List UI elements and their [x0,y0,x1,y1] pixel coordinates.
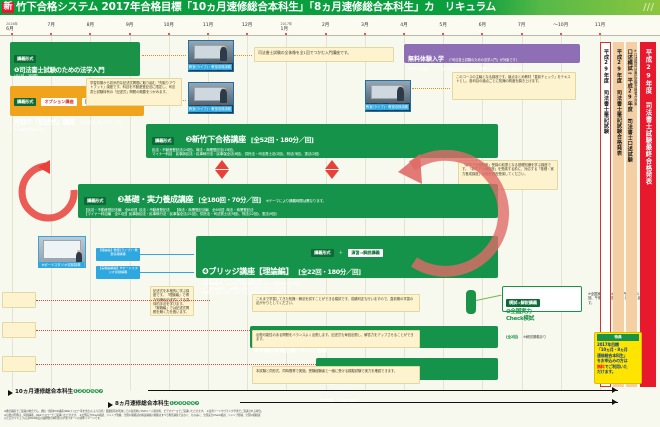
description-jump-text: 出題可能性のある問題をバランスよく出題します。記述式も毎回出題し、解答力をアップ… [256,333,416,342]
course-card-check-mock[interactable]: 模試⇒解説講義 ❺全国実力 Check模試 [全2回] ※解説講義あり [502,286,582,312]
timeline-tick-13: 6月 [479,22,487,28]
description-public-mock: 本試験と同形式、同時間帯で実施。受験経験者と一緒に受ける模擬試験で実力を確認でき… [252,366,420,384]
timeline-tick-label: ～10月 [553,23,568,28]
course-kijutsu-tag: 講義形式 [14,98,36,106]
course-check-mock-note: ※解説講義あり [523,335,546,339]
exam-panel-label: 口述模試⇒平成29年度 司法書士口述試験 [626,49,633,162]
description-bridge-text: 記述式を本格的に学ぶ講座です。「理論編」で得た知識を記述式にする具体的手法を学び… [153,289,191,315]
timeline-tick-label: 7月 [47,23,55,28]
connector-photo-desc-1 [234,55,252,56]
timeline-tick-12: 5月 [439,22,447,28]
new-badge: 新 [2,2,14,13]
timeline-tick-label: 8月 [87,23,95,28]
description-kijutsu: 学習初期から初歩的な記述式問題に取り組む「先取りアウトプット」講座です。科目を不… [86,78,182,106]
timeline-tick-dot [246,33,248,35]
description-intro-text: 司法書士試験の全体像を全1回でつかむ入門講座です。 [258,50,390,55]
timeline-tick-year: 2016年 [6,22,18,26]
timeline-tick-dot [560,33,562,35]
timeline-tick-label: 11月 [203,23,213,28]
page-header: 新 竹下合格システム 2017年合格目標「10ヵ月速修総合本科生」「8ヵ月速修総… [0,0,660,15]
timeline-tick-dot [50,33,52,35]
milestone-chip-3 [2,356,36,372]
timeline-tick-label: 9月 [126,23,134,28]
timeline-tick-dot [403,33,405,35]
bonus-free-word: 無料 [597,364,605,369]
timeline-tick-dot [285,33,287,35]
course-intro-tag: 講義形式 [14,55,36,63]
course-kiso-title: ❸基礎・実力養成講座 [117,195,193,204]
description-check-mock-text: これまで学習してきた知識・解法を試すことができる模試です。成績判定も行いますので… [256,297,416,306]
course-bridge-plus: ＋ [339,251,344,256]
timeline-tick-11: 4月 [400,22,408,28]
arrow-up-2 [325,160,339,169]
course-jump-title: ❻早稲田合格答練ジャンプ答練 [254,348,494,355]
legend-label-10month: 10ヵ月速修総合本科生 [15,389,73,395]
description-check-mock: これまで学習してきた知識・解法を試すことができる模試です。成績判定も行いますので… [252,294,420,312]
course-kiso-title2: [全180回・70分／回] [198,196,261,204]
timeline-tick-10: 3月 [361,22,369,28]
timeline-tick-dot [207,33,209,35]
timeline-tick-label: 3月 [361,23,369,28]
legend-row-8month: 8ヵ月速修総合本科生❶❷❸❹❺❻❼ [115,399,199,407]
cycle-arrow-right [396,150,526,280]
legend-arrow-2 [108,402,113,408]
curriculum-diagram: 新 竹下合格システム 2017年合格目標「10ヵ月速修総合本科生」「8ヵ月速修総… [0,0,660,427]
timeline-tick-1: 2016年6月 [6,22,18,32]
timeline-tick-16: 11月 [595,22,605,28]
course-shintakeshita-title: ❷新竹下合格講座 [185,135,245,144]
milestone-chip-1 [2,292,36,308]
timeline-tick-year: 2017年 [281,22,293,26]
description-shintakeshita: このコースの主軸となる講座です。論点まとめ教材「直前チェック」をテキストとし、各… [452,72,576,100]
timeline-tick-label: 4月 [400,23,408,28]
timeline-tick-dot [599,33,601,35]
timeline-tick-4: 9月 [126,22,134,28]
photo-label-bridge-practice: 【実戦編解説】※ボードスタジオ収録講義 [96,266,140,279]
legend-label-8month: 8ヵ月速修総合本科生 [115,401,169,407]
legend-arrowhead-2 [612,399,617,405]
page-title: 竹下合格システム 2017年合格目標「10ヵ月速修総合本科生」「8ヵ月速修総合本… [16,1,496,14]
arrow-down-1 [215,170,229,179]
exam-panel-label: 平成29年度 司法書士試験最終合格発表 [644,49,653,185]
legend-arrowhead-1 [612,387,617,393]
bonus-tag: 特典 [597,334,639,341]
course-kijutsu-sub: 不動産登記法(10回) [14,128,140,132]
free-trial-title: 無料体験入学 [408,56,444,63]
timeline-tick-8: 2017年1月 [281,22,293,32]
milestone-chip-2 [2,322,36,338]
exam-panel-label: 平成29年度 司法書士筆記試験合格発表 [615,49,622,156]
exam-panel-label: 平成29年度 司法書士筆記試験 [602,49,609,134]
description-shintakeshita-text: このコースの主軸となる講座です。論点まとめ教材「直前チェック」をテキストとし、各… [456,75,572,84]
course-intro-title: ❶司法書士試験のための法学入門 [14,66,136,74]
timeline-tick-dot [89,33,91,35]
timeline-tick-dot [481,33,483,35]
timeline-tick-label: 12月 [242,23,252,28]
course-kijutsu-title: 先取り「記述式」講座 [14,118,75,126]
timeline-tick-label: 6月 [6,27,14,32]
timeline-tick-dot [325,33,327,35]
timeline-tick-label: 6月 [479,23,487,28]
free-trial-note: (「司法書士試験のための法学入門」が対象です) [449,58,517,62]
cycle-arrow-left [14,160,84,224]
legend-line-10month [148,390,618,391]
mock-exam-pill [466,290,476,314]
timeline-tick-label: 2月 [322,23,330,28]
description-kijutsu-text: 学習初期から初歩的な記述式問題に取り組む「先取りアウトプット」講座です。科目を不… [90,81,178,94]
free-trial-card[interactable]: 無料体験入学 (「司法書士試験のための法学入門」が対象です) 個別DVD講座 ・… [404,44,580,63]
arrow-down-2 [325,170,339,179]
course-check-mock-title: ❺全国実力 [506,309,578,316]
description-bridge: 記述式を本格的に学ぶ講座です。「理論編」で得た知識を記述式にする具体的手法を学び… [150,286,194,316]
timeline-tick-14: 7月 [518,22,526,28]
timeline-tick-6: 11月 [203,22,213,28]
course-bridge-title: ❹ブリッジ講座【理論編】 [202,267,293,276]
free-trial-body: 個別DVD講座 ・・・ TAC各校のDVDルームでご視聴いただけます。（要予約） [408,67,576,71]
connector-bridge-theory [140,254,194,255]
description-intro: 司法書士試験の全体像を全1回でつかむ入門講座です。 [254,47,394,62]
header-slash-decor: /// [643,2,654,13]
course-card-intro[interactable]: 講義形式 ❶司法書士試験のための法学入門 [全1回・2時間] [10,42,140,76]
course-kiso-note: ※テーマにより講義時間は異なります。 [266,199,326,203]
course-kijutsu-title2: [全10回・約100分／回] [80,120,121,125]
timeline-tick-9: 2月 [322,22,330,28]
course-kijutsu-option-tag: オプション講座 [41,98,76,106]
connector-bridge-practice [140,272,194,273]
timeline-tick-5: 10月 [164,22,174,28]
timeline-tick-dot [521,33,523,35]
timeline-tick-7: 12月 [242,22,252,28]
exam-panel-sublabel: ※口述模試は筆記試験合格者が対象 [633,49,638,106]
bonus-line-6: だけます。 [597,369,639,374]
course-shintakeshita-tag: 講義形式 [152,137,174,145]
legend-nums-10month: ❶❷❸❹❺❻❼ [73,389,103,395]
timeline-tick-dot [364,33,366,35]
course-bridge-tag: 講義形式 [311,249,333,257]
course-bridge-tag3: 演習⇒解説講義 [348,249,383,257]
timeline-tick-dot [129,33,131,35]
legend-nums-8month: ❶❷❸❹❺❻❼ [169,401,199,407]
timeline-tick-label: 7月 [518,23,526,28]
course-check-mock-sub: [全2回] [506,335,518,339]
connector-mock-2 [36,330,250,331]
course-check-mock-tag: 模試⇒解説講義 [506,299,540,307]
timeline-tick-label: 10月 [164,23,174,28]
timeline-tick-dot [168,33,170,35]
exam-panel-4: 平成29年度 司法書士試験最終合格発表 [640,42,656,387]
timeline-tick-label: 5月 [439,23,447,28]
photo-label-bridge-theory: 【理論編】教室(ライブ)・教室収録講義 [96,248,140,261]
photo-label-1: 教室(ライブ)・教室収録講義 [188,64,232,70]
footnote-line-3: の上記カリキュラムは2016年度の速修総合本科生の学習パターンの標準イメージです… [4,417,644,421]
connector-intro-photo [142,55,186,56]
timeline-tick-2: 7月 [47,22,55,28]
arrow-up-1 [215,160,229,169]
bonus-line-5b: でご利用いた [605,364,628,369]
footnote-block: ※教室講座でご受講の場合でも、通信・個別DVD講座(Webフォロー等を含む)によ… [4,410,644,421]
timeline-tick-dot [11,33,13,35]
legend-row-10month: 10ヵ月速修総合本科生❶❷❸❹❺❻❼ [15,387,103,395]
description-public-mock-text: 本試験と同形式、同時間帯で実施。受験経験者と一緒に受ける模擬試験で実力を確認でき… [256,369,416,373]
legend-line-8month [240,402,618,403]
photo-label-board-studio: ※ボードスタジオ収録講義 [38,262,84,268]
course-kiso-tag: 講義形式 [84,197,106,205]
timeline-tick-label: 1月 [281,27,289,32]
course-shintakeshita-title2: [全52回・180分／回] [251,136,314,144]
timeline-tick-15: ～10月 [553,22,568,28]
bonus-callout: 特典 2017年目標 「10ヵ月・8ヵ月 速修総合本科生」 をお申込みの方は 無… [594,332,642,384]
timeline-tick-3: 8月 [87,22,95,28]
connector-photo3-desc [412,88,450,89]
photo-label-2: 教室(ライブ)・教室収録講義 [188,106,232,112]
timeline-tick-label: 11月 [595,23,605,28]
course-check-mock-title2: Check模試 [506,316,578,323]
connector-mock-1 [36,300,210,301]
course-bridge-title2: [全22回・180分／回] [298,268,361,276]
legend-arrow-1 [8,390,13,396]
photo-label-3: 教室(ライブ)・教室収録講義 [365,104,409,110]
description-jump: 出題可能性のある問題をバランスよく出題します。記述式も毎回出題し、解答力をアップ… [252,330,420,348]
timeline-tick-dot [442,33,444,35]
